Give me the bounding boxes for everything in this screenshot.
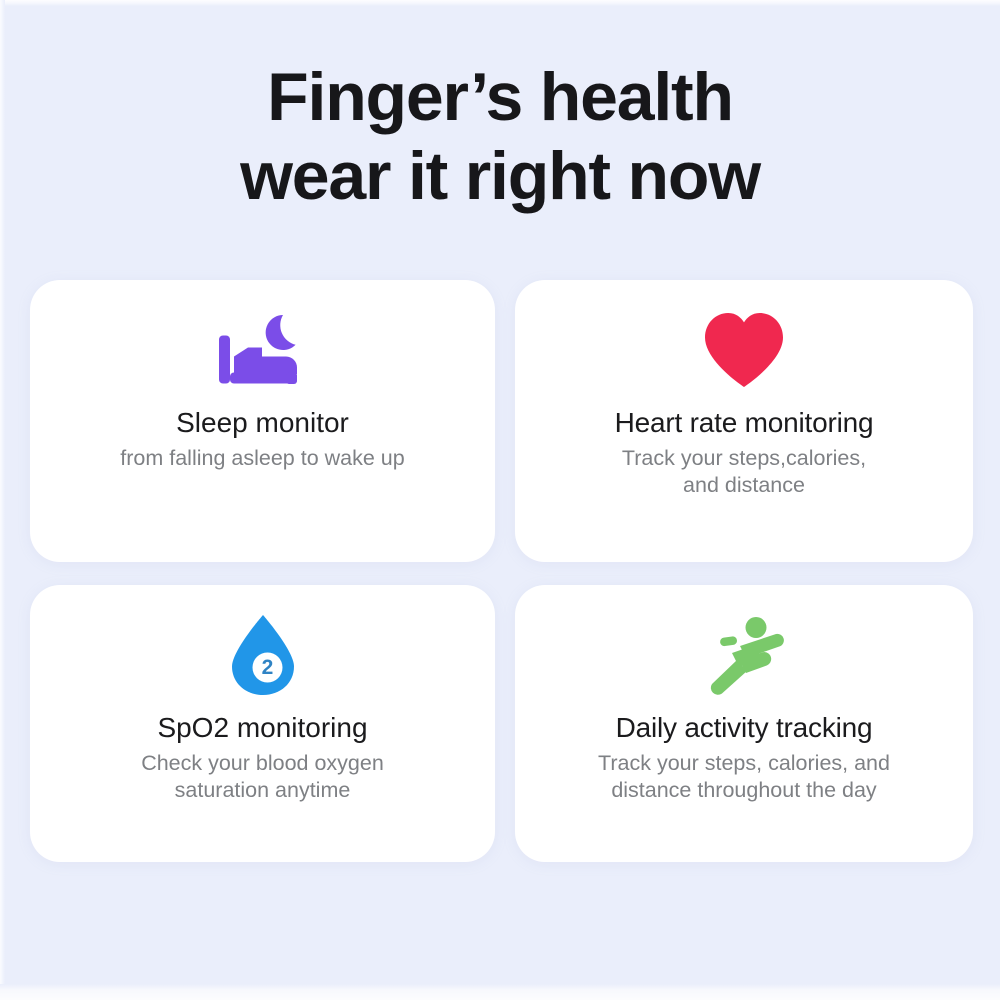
feature-card-spo2-monitoring[interactable]: 2 SpO2 monitoring Check your blood oxyge…	[30, 585, 495, 862]
heart-icon	[701, 311, 787, 394]
feature-card-daily-activity-tracking[interactable]: Daily activity tracking Track your steps…	[515, 585, 973, 862]
card-subtitle-line: Check your blood oxygen	[141, 750, 384, 777]
card-subtitle: Track your steps,calories, and distance	[596, 445, 892, 499]
card-subtitle: Check your blood oxygen saturation anyti…	[115, 750, 410, 804]
promo-feature-page: Finger’s health wear it right now	[0, 0, 1000, 1000]
card-icon-wrapper: 2	[226, 611, 300, 703]
water-drop-o2-icon: 2	[226, 613, 300, 702]
page-headline: Finger’s health wear it right now	[0, 58, 1000, 216]
card-subtitle-line: distance throughout the day	[598, 777, 890, 804]
card-subtitle-line: from falling asleep to wake up	[120, 445, 404, 472]
bed-moon-icon	[215, 312, 311, 393]
headline-line-2: wear it right now	[0, 137, 1000, 216]
feature-card-grid: Sleep monitor from falling asleep to wak…	[30, 280, 973, 862]
card-subtitle-line: saturation anytime	[141, 777, 384, 804]
card-icon-wrapper	[702, 611, 786, 703]
feature-card-heart-rate-monitoring[interactable]: Heart rate monitoring Track your steps,c…	[515, 280, 973, 562]
card-subtitle: from falling asleep to wake up	[94, 445, 430, 472]
card-subtitle-line: Track your steps,calories,	[622, 445, 866, 472]
water-drop-o2-icon-label: 2	[261, 656, 273, 679]
card-subtitle-line: Track your steps, calories, and	[598, 750, 890, 777]
running-person-icon	[702, 615, 786, 700]
headline-line-1: Finger’s health	[0, 58, 1000, 137]
card-title: SpO2 monitoring	[157, 711, 367, 745]
card-subtitle-line: and distance	[622, 472, 866, 499]
card-title: Sleep monitor	[176, 406, 349, 440]
top-edge-band	[0, 0, 1000, 6]
card-icon-wrapper	[701, 306, 787, 398]
card-icon-wrapper	[215, 306, 311, 398]
card-title: Heart rate monitoring	[615, 406, 874, 440]
bottom-edge-band	[0, 984, 1000, 1000]
feature-card-sleep-monitor[interactable]: Sleep monitor from falling asleep to wak…	[30, 280, 495, 562]
card-subtitle: Track your steps, calories, and distance…	[572, 750, 916, 804]
card-title: Daily activity tracking	[616, 711, 873, 745]
